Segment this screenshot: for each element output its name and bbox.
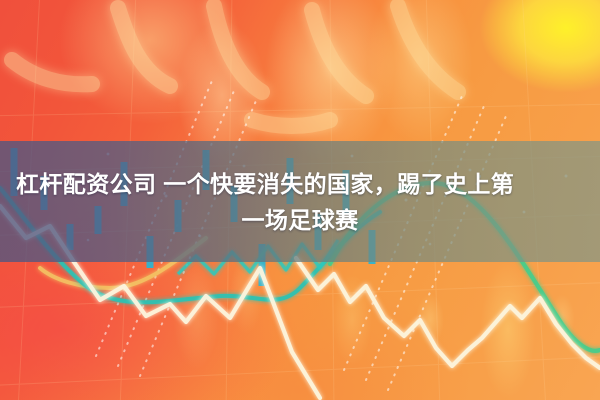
headline: 杠杆配资公司 一个快要消失的国家，踢了史上第 一场足球赛 <box>0 141 600 262</box>
headline-line-2: 一场足球赛 <box>242 205 359 235</box>
headline-line-1: 杠杆配资公司 一个快要消失的国家，踢了史上第 <box>0 169 600 199</box>
banner-image: 杠杆配资公司 一个快要消失的国家，踢了史上第 一场足球赛 <box>0 0 600 400</box>
white-zigzag-lower-right <box>296 258 600 368</box>
